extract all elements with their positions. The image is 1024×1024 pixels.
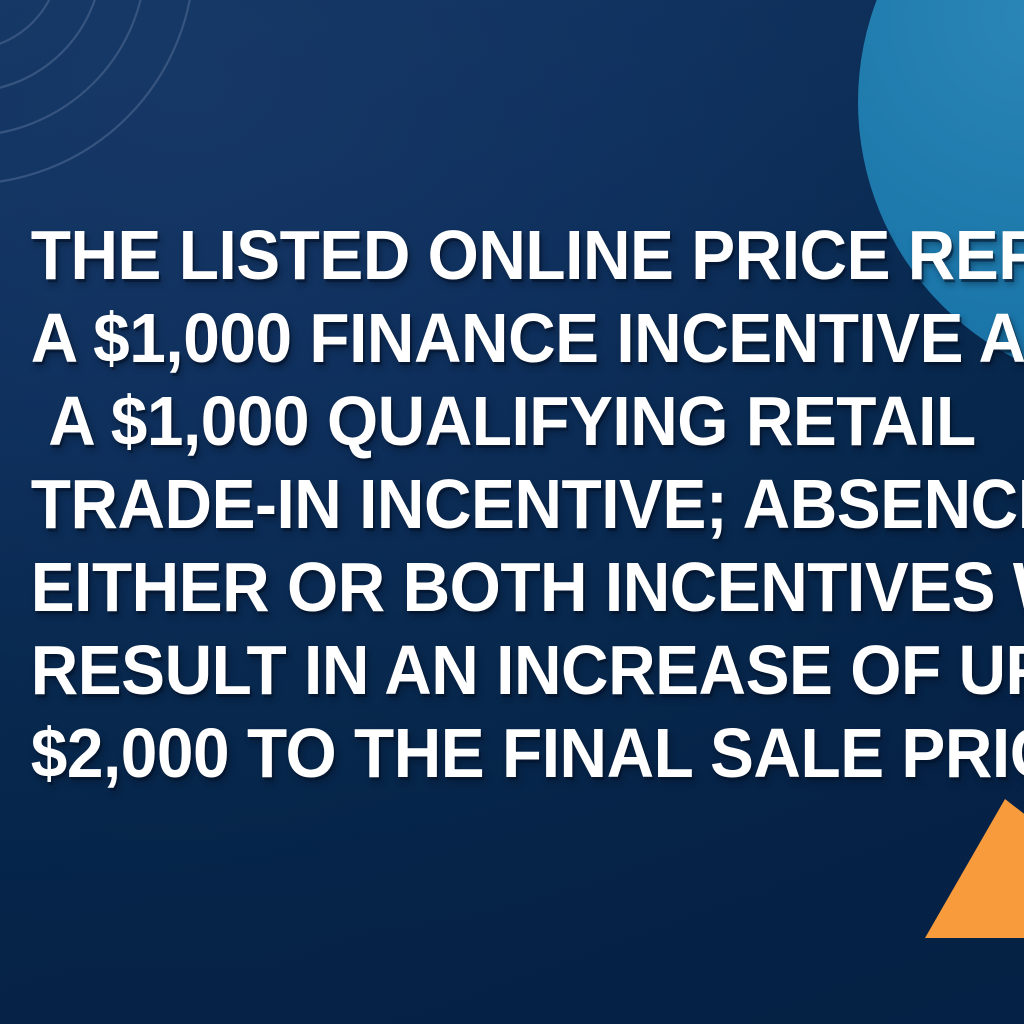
- headline-line-3: A $1,000 QUALIFYING RETAIL: [31, 380, 994, 463]
- headline-line-7: $2,000 TO THE FINAL SALE PRICE.: [31, 712, 994, 795]
- headline-line-4: TRADE-IN INCENTIVE; ABSENCE OF: [31, 463, 994, 546]
- headline-line-5: EITHER OR BOTH INCENTIVES WILL: [31, 546, 994, 629]
- headline-line-2: A $1,000 FINANCE INCENTIVE AND: [31, 297, 994, 380]
- headline-line-6: RESULT IN AN INCREASE OF UP TO: [31, 629, 994, 712]
- triangle-decoration: [925, 799, 1024, 939]
- headline-line-1: THE LISTED ONLINE PRICE REFLECTS: [31, 214, 994, 297]
- promo-graphic-canvas: THE LISTED ONLINE PRICE REFLECTS A $1,00…: [0, 0, 1024, 1024]
- disclaimer-headline: THE LISTED ONLINE PRICE REFLECTS A $1,00…: [0, 214, 1024, 795]
